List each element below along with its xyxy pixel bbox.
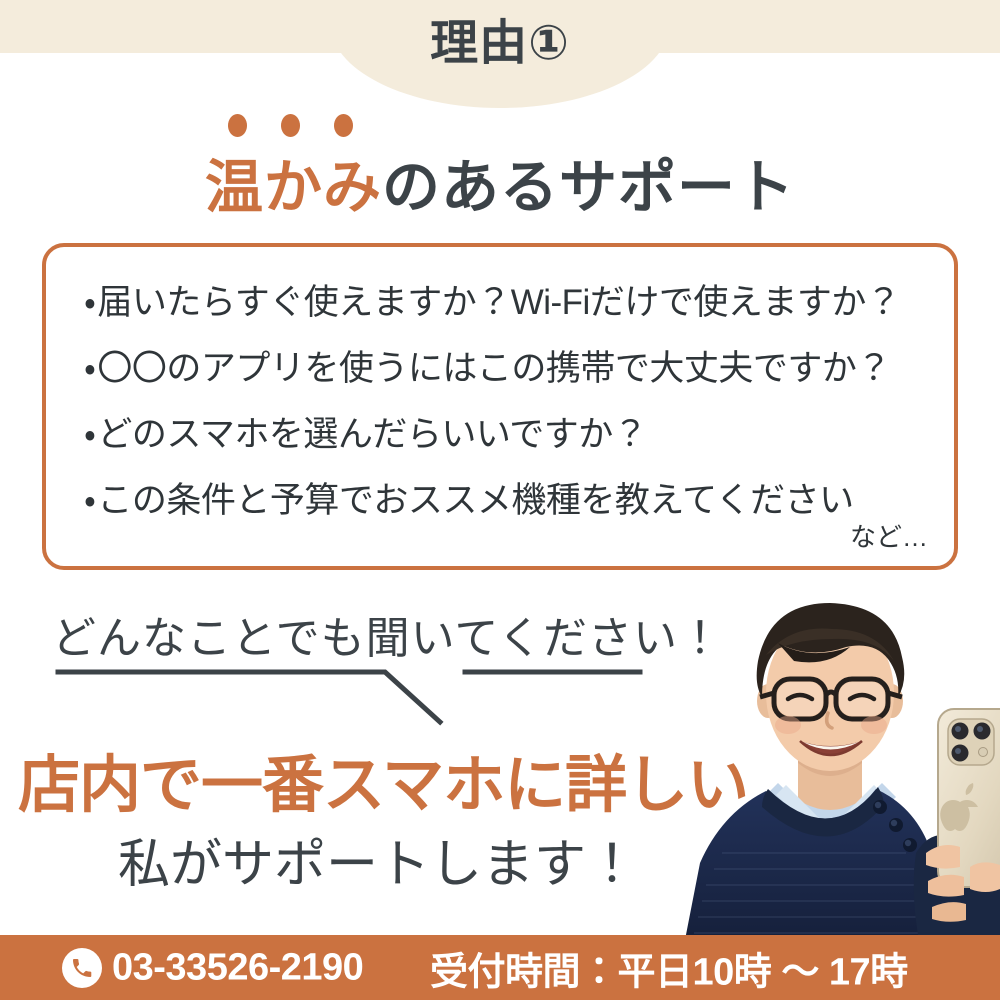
emphasis-dots xyxy=(228,114,353,137)
ask-anything-text: どんなことでも聞いてください！ xyxy=(52,602,723,666)
list-item: ・届いたらすぐ使えますか？Wi-Fiだけで使えますか？ xyxy=(84,269,934,335)
phone-handset-icon xyxy=(62,948,102,988)
business-hours: 受付時間：平日10時 〜 17時 xyxy=(430,940,908,995)
page-title: 理由① xyxy=(0,16,1000,71)
subtitle-rest: のあるサポート xyxy=(382,155,795,220)
headline-orange: 店内で一番スマホに詳しい xyxy=(18,734,748,824)
question-list-box: ・届いたらすぐ使えますか？Wi-Fiだけで使えますか？ ・〇〇のアプリを使うには… xyxy=(42,243,958,570)
headline-support: 私がサポートします！ xyxy=(118,822,638,897)
contact-footer: 03-33526-2190 受付時間：平日10時 〜 17時 xyxy=(0,935,1000,1000)
bullet-marker: ・ xyxy=(84,283,95,322)
list-footnote: など… xyxy=(850,517,928,554)
emphasis-dot-3 xyxy=(334,114,353,137)
speech-bubble-tail-icon xyxy=(40,660,660,730)
bullet-marker: ・ xyxy=(84,349,95,388)
emphasis-dot-1 xyxy=(228,114,247,137)
bullet-marker: ・ xyxy=(84,415,95,454)
list-item-label: 届いたらすぐ使えますか？Wi-Fiだけで使えますか？ xyxy=(97,283,900,322)
list-item: ・どのスマホを選んだらいいですか？ xyxy=(84,401,934,467)
bullet-marker: ・ xyxy=(84,481,95,520)
list-item-label: 〇〇のアプリを使うにはこの携帯で大丈夫ですか？ xyxy=(97,349,891,388)
subtitle-highlight: 温かみ xyxy=(205,155,382,220)
question-list: ・届いたらすぐ使えますか？Wi-Fiだけで使えますか？ ・〇〇のアプリを使うには… xyxy=(84,269,934,533)
emphasis-dot-2 xyxy=(281,114,300,137)
list-item-label: この条件と予算でおススメ機種を教えてください xyxy=(97,481,853,520)
list-item-label: どのスマホを選んだらいいですか？ xyxy=(97,415,647,454)
phone-number[interactable]: 03-33526-2190 xyxy=(112,946,363,989)
phone-glyph xyxy=(70,956,94,980)
promo-page: 理由① 温かみのあるサポート ・届いたらすぐ使えますか？Wi-Fiだけで使えます… xyxy=(0,0,1000,1000)
list-item: ・この条件と予算でおススメ機種を教えてください xyxy=(84,467,934,533)
list-item: ・〇〇のアプリを使うにはこの携帯で大丈夫ですか？ xyxy=(84,335,934,401)
subtitle: 温かみのあるサポート xyxy=(0,140,1000,224)
